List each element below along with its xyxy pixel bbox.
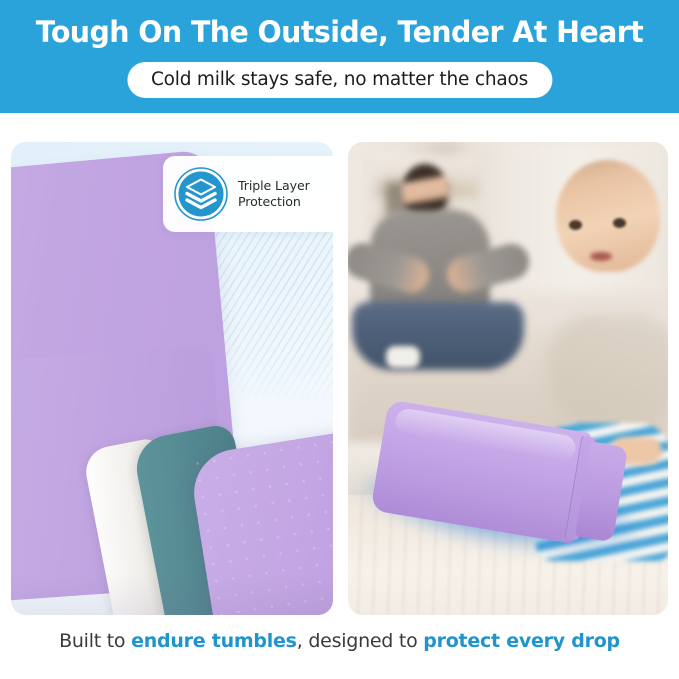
baby-mouth: [590, 252, 612, 261]
footer-caption: Built to endure tumbles, designed to pro…: [0, 628, 679, 654]
badge-label: Triple Layer Protection: [238, 178, 310, 210]
panel-bottom-shadow: [11, 573, 333, 615]
lifestyle-photo-panel: [348, 142, 668, 615]
header-banner: Tough On The Outside, Tender At Heart Co…: [0, 0, 679, 113]
layers-icon: [174, 167, 228, 221]
baby-left-eye: [569, 220, 582, 230]
footer-part2: , designed to: [297, 630, 424, 652]
subtitle-text: Cold milk stays safe, no matter the chao…: [151, 70, 528, 90]
father-legs: [352, 302, 524, 370]
badge-label-line1: Triple Layer: [238, 178, 310, 194]
baby-right-eye: [613, 218, 626, 228]
badge-label-line2: Protection: [238, 194, 310, 210]
sofa-arm: [548, 315, 668, 425]
footer-highlight2: protect every drop: [423, 630, 620, 652]
father-sock: [386, 346, 420, 368]
subtitle-pill: Cold milk stays safe, no matter the chao…: [127, 62, 552, 98]
product-layers-panel: Triple Layer Protection: [11, 142, 333, 615]
triple-layer-badge: Triple Layer Protection: [163, 156, 333, 232]
page-title: Tough On The Outside, Tender At Heart: [12, 14, 667, 50]
image-panels: Triple Layer Protection: [0, 142, 679, 615]
footer-part1: Built to: [59, 630, 131, 652]
footer-highlight1: endure tumbles: [131, 630, 297, 652]
